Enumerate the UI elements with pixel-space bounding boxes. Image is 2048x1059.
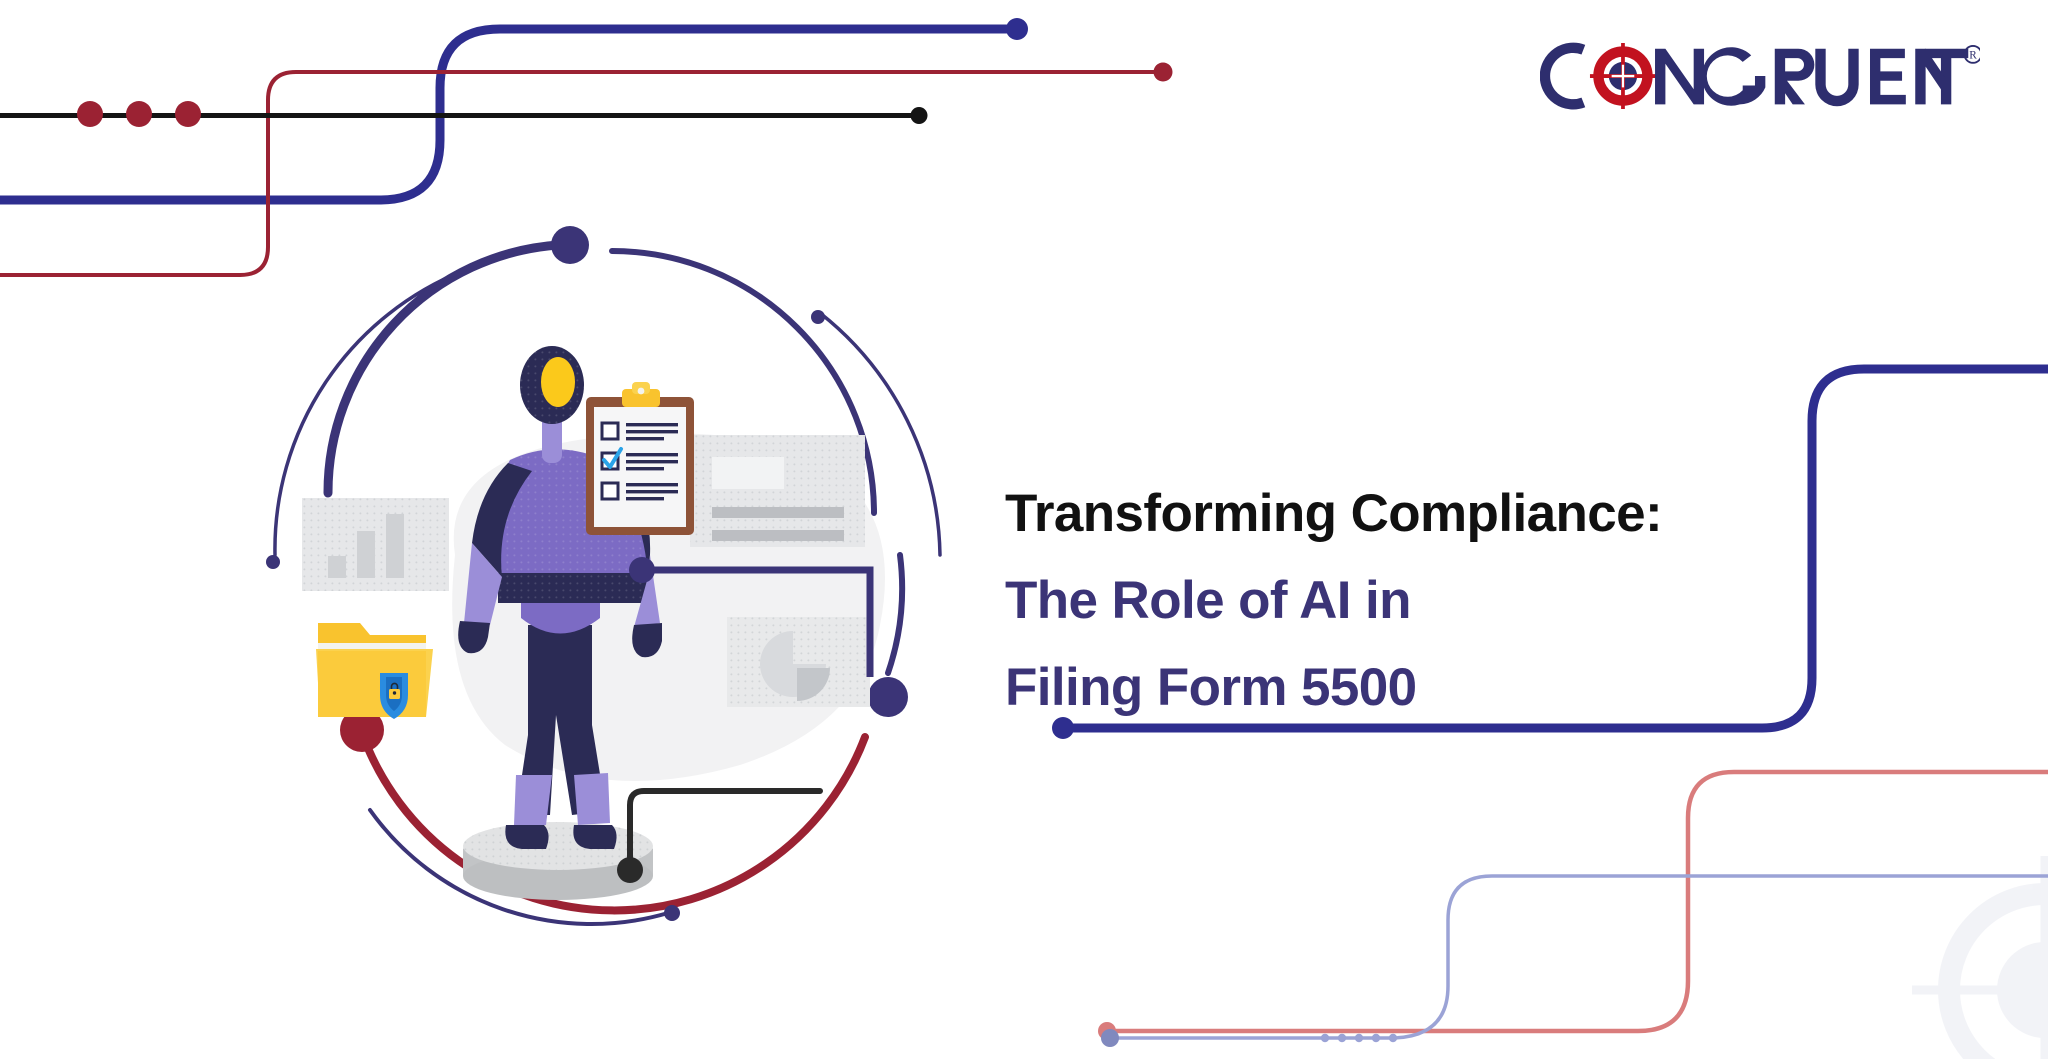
document-card [690, 435, 865, 547]
trace-black-top-endpoint [911, 107, 928, 124]
arc-node-left [266, 555, 280, 569]
trace-navy-top [0, 29, 1010, 200]
clipboard-connector-node [629, 557, 655, 583]
trace-salmon-endpoint [1098, 1022, 1116, 1040]
trace-dotted-segment [1321, 1034, 1397, 1042]
logo-letter-c [1545, 48, 1583, 105]
accent-dot-2 [126, 101, 152, 127]
pie-chart-card [727, 617, 870, 707]
logo-letters [1655, 47, 1945, 106]
arc-node-bottom [664, 905, 680, 921]
trace-periwinkle-bottom [1390, 876, 2048, 1038]
arc-node-right-top [811, 310, 825, 324]
accent-dot-1 [77, 101, 103, 127]
arc-node-right [868, 677, 908, 717]
trace-red-top-endpoint [1154, 63, 1173, 82]
brand-logo[interactable]: R [1540, 38, 1980, 116]
folder-secure-icon [316, 623, 433, 719]
accent-dot-3 [175, 101, 201, 127]
arc-navy-right-lower [888, 555, 902, 673]
robot-visor [541, 357, 575, 407]
page-title: Transforming Compliance: The Role of AI … [1005, 470, 1945, 731]
trace-navy-top-endpoint [1006, 18, 1028, 40]
logo-letter-n1 [1655, 49, 1704, 105]
logo-letter-u [1815, 49, 1858, 107]
congruent-wordmark [1540, 38, 1945, 116]
hero-illustration [240, 225, 960, 935]
power-cable-plug [617, 857, 643, 883]
arc-node-top [551, 226, 589, 264]
logo-letter-n2 [1915, 49, 1945, 105]
banner-canvas: Transforming Compliance: The Role of AI … [0, 0, 2048, 1059]
robot-foot-left [505, 825, 548, 849]
headline-line-2: The Role of AI in [1005, 557, 1945, 644]
robot-foot-right [573, 825, 616, 849]
power-cable [630, 791, 820, 867]
bar-chart-card [302, 498, 449, 591]
svg-text:R: R [1970, 50, 1978, 62]
trace-salmon-bottom [1112, 772, 2048, 1031]
logo-letter-g [1702, 47, 1766, 105]
trace-periwinkle-endpoint [1101, 1029, 1119, 1047]
target-crosshair-icon [1590, 43, 1656, 109]
target-crosshair-watermark [1912, 856, 2048, 1059]
headline-line-3: Filing Form 5500 [1005, 644, 1945, 731]
logo-letter-e [1870, 49, 1906, 105]
headline-line-1: Transforming Compliance: [1005, 470, 1945, 557]
logo-letter-r [1775, 49, 1815, 105]
